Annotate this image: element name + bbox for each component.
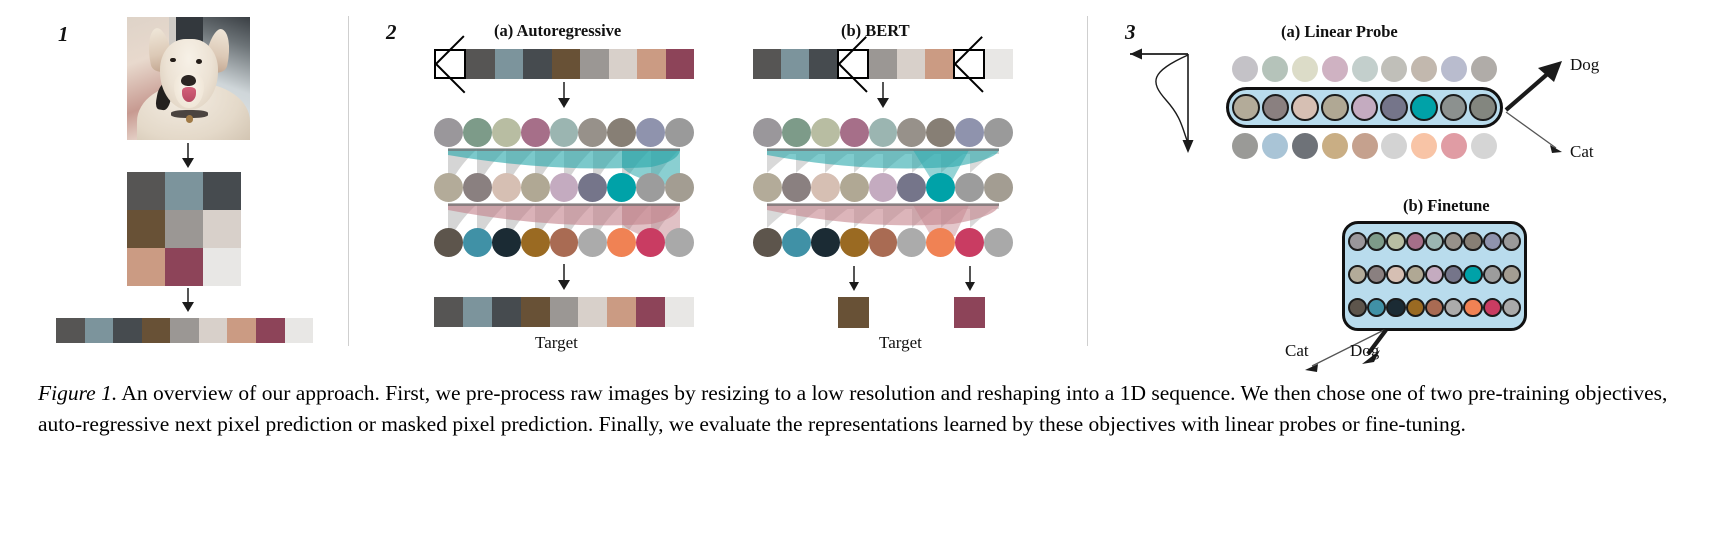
probe-bottom-node <box>1471 133 1497 159</box>
bert-layer3-node <box>984 228 1013 257</box>
probe-middle-node <box>1321 94 1349 122</box>
arrow-bert-input-to-layer1 <box>875 82 891 108</box>
autoregressive-target-label: Target <box>535 333 578 353</box>
ar-input-cell <box>637 49 665 79</box>
bert-layer1-node <box>984 118 1013 147</box>
panel-divider-2 <box>1087 16 1088 346</box>
ar-layer1-node <box>463 118 492 147</box>
ar-layer1-node <box>492 118 521 147</box>
autoregressive-input-strip <box>434 49 694 79</box>
bert-layer2-node <box>840 173 869 202</box>
finetune-r2-node <box>1444 265 1463 284</box>
bert-layer3-node <box>926 228 955 257</box>
probe-top-node <box>1352 56 1378 82</box>
finetune-row-3 <box>1348 293 1521 322</box>
finetune-r3-node <box>1502 298 1521 317</box>
pixel-cell <box>203 172 241 210</box>
bert-layer2-node <box>782 173 811 202</box>
panel-3-number: 3 <box>1125 20 1136 45</box>
probe-middle-node <box>1262 94 1290 122</box>
pixel-cell <box>165 210 203 248</box>
probe-bottom-node <box>1411 133 1437 159</box>
probe-top-node <box>1232 56 1258 82</box>
linear-probe-output-arrows <box>1500 48 1630 158</box>
arrow-ar-input-to-layer1 <box>556 82 572 108</box>
bert-input-cell <box>781 49 809 79</box>
ar-target-cell <box>521 297 550 327</box>
probe-top-node <box>1411 56 1437 82</box>
pixel-cell <box>127 172 165 210</box>
bert-layer1-node <box>753 118 782 147</box>
finetune-r3-node <box>1444 298 1463 317</box>
finetune-r1-node <box>1386 232 1405 251</box>
figure-caption: Figure 1. An overview of our approach. F… <box>38 378 1678 439</box>
arrow-ar-layer3-to-target <box>556 264 572 290</box>
bert-input-cell <box>869 49 897 79</box>
finetune-r3-node <box>1483 298 1502 317</box>
bert-layer3-node <box>869 228 898 257</box>
linear-probe-label-cat: Cat <box>1570 142 1594 162</box>
finetune-r1-node <box>1367 232 1386 251</box>
bert-layer2-node <box>984 173 1013 202</box>
ar-target-cell <box>607 297 636 327</box>
finetune-r3-node <box>1425 298 1444 317</box>
ar-layer1-node <box>607 118 636 147</box>
ar-input-cell <box>666 49 694 79</box>
bert-target-label: Target <box>879 333 922 353</box>
finetune-r1-node <box>1444 232 1463 251</box>
bert-layer1-node <box>811 118 840 147</box>
finetune-r2-node <box>1502 265 1521 284</box>
probe-top-node <box>1292 56 1318 82</box>
finetune-row-1 <box>1348 227 1521 256</box>
probe-middle-node <box>1410 94 1438 122</box>
bert-input-strip <box>753 49 1013 79</box>
probe-top-node <box>1381 56 1407 82</box>
finetune-label-dog: Dog <box>1350 341 1379 361</box>
arrow-bert-target-2 <box>963 266 977 291</box>
bert-title: (b) BERT <box>841 21 910 41</box>
dog-eye-right <box>196 59 202 64</box>
ar-layer3-node <box>550 228 579 257</box>
sequence-cell <box>142 318 171 343</box>
ar-layer1-node <box>636 118 665 147</box>
sequence-cell <box>113 318 142 343</box>
panel-divider-1 <box>348 16 349 346</box>
ar-layer3-node <box>463 228 492 257</box>
panel-1-number: 1 <box>58 22 69 47</box>
probe-middle-node <box>1380 94 1408 122</box>
ar-input-cell <box>495 49 523 79</box>
ar-target-cell <box>434 297 463 327</box>
finetune-r2-node <box>1348 265 1367 284</box>
bert-layer2-node <box>753 173 782 202</box>
bert-layer1-node <box>782 118 811 147</box>
ar-input-cell <box>552 49 580 79</box>
finetune-r3-node <box>1386 298 1405 317</box>
probe-bottom-node <box>1232 133 1258 159</box>
ar-input-cell <box>609 49 637 79</box>
finetune-r3-node <box>1463 298 1482 317</box>
finetune-title: (b) Finetune <box>1403 196 1490 216</box>
ar-target-cell <box>492 297 521 327</box>
probe-bottom-node <box>1352 133 1378 159</box>
probe-middle-node <box>1351 94 1379 122</box>
finetune-r3-node <box>1406 298 1425 317</box>
dog-photo <box>127 17 250 140</box>
bert-layer1-node <box>926 118 955 147</box>
autoregressive-target-strip <box>434 297 694 327</box>
linear-probe-row-top <box>1232 56 1497 82</box>
probe-top-node <box>1262 56 1288 82</box>
finetune-r3-node <box>1348 298 1367 317</box>
ar-layer1-node <box>434 118 463 147</box>
bert-layer3-node <box>897 228 926 257</box>
bert-layer1-node <box>840 118 869 147</box>
bert-layer2-nodes <box>753 173 1013 202</box>
sequence-cell <box>85 318 114 343</box>
linear-probe-row-bottom <box>1232 133 1497 159</box>
finetune-r2-node <box>1425 265 1444 284</box>
sequence-cell <box>199 318 228 343</box>
ar-layer3-node <box>636 228 665 257</box>
pixel-cell <box>127 210 165 248</box>
finetune-r3-node <box>1367 298 1386 317</box>
ar-layer3-node <box>665 228 694 257</box>
sequence-cell <box>285 318 314 343</box>
bert-layer1-node <box>897 118 926 147</box>
sequence-cell <box>56 318 85 343</box>
bert-layer1-node <box>869 118 898 147</box>
sequence-cell <box>256 318 285 343</box>
figure-caption-text: An overview of our approach. First, we p… <box>38 381 1667 436</box>
finetune-r1-node <box>1406 232 1425 251</box>
finetune-row-2 <box>1348 260 1521 289</box>
ar-input-cell <box>523 49 551 79</box>
bert-layer3-node <box>955 228 984 257</box>
bert-layer3-node <box>782 228 811 257</box>
probe-bottom-node <box>1381 133 1407 159</box>
ar-layer1-node <box>578 118 607 147</box>
ar-layer3-node <box>607 228 636 257</box>
probe-bottom-node <box>1262 133 1288 159</box>
ar-layer3-node <box>521 228 550 257</box>
ar-layer1-node <box>665 118 694 147</box>
ar-target-cell <box>665 297 694 327</box>
autoregressive-layer1-nodes <box>434 118 694 147</box>
bert-layer2-node <box>955 173 984 202</box>
probe-bottom-node <box>1322 133 1348 159</box>
ar-layer3-node <box>434 228 463 257</box>
figure-caption-label: Figure 1. <box>38 381 117 405</box>
autoregressive-layer2-nodes <box>434 173 694 202</box>
bert-target-square-1 <box>838 297 869 328</box>
arrow-grid-to-sequence <box>180 288 196 312</box>
finetune-r1-node <box>1463 232 1482 251</box>
figure-1-overview: 1 2 (a) Autoregressive <box>0 0 1710 546</box>
pixel-grid-3x3 <box>127 172 241 286</box>
bert-input-masked-cell <box>953 49 985 79</box>
pixel-cell <box>165 248 203 286</box>
panel-2-number: 2 <box>386 20 397 45</box>
ar-layer2-node <box>463 173 492 202</box>
ar-layer1-node <box>521 118 550 147</box>
finetune-label-cat: Cat <box>1285 341 1309 361</box>
ar-target-cell <box>550 297 579 327</box>
linear-probe-label-dog: Dog <box>1570 55 1599 75</box>
bert-layer1-node <box>955 118 984 147</box>
ar-input-cell <box>580 49 608 79</box>
bert-layer2-node <box>897 173 926 202</box>
probe-middle-node <box>1469 94 1497 122</box>
probe-top-node <box>1322 56 1348 82</box>
finetune-r1-node <box>1425 232 1444 251</box>
finetune-r1-node <box>1348 232 1367 251</box>
bert-input-cell <box>925 49 953 79</box>
sequence-cell <box>170 318 199 343</box>
pixel-cell <box>203 248 241 286</box>
pixel-cell <box>203 210 241 248</box>
pixel-cell <box>127 248 165 286</box>
bert-target-square-2 <box>954 297 985 328</box>
ar-layer2-node <box>578 173 607 202</box>
linear-probe-row-middle <box>1232 92 1497 123</box>
sequence-cell <box>227 318 256 343</box>
finetune-r2-node <box>1367 265 1386 284</box>
sequence-strip-1d <box>56 318 313 343</box>
ar-target-cell <box>636 297 665 327</box>
bert-input-masked-cell <box>837 49 869 79</box>
ar-layer2-node <box>550 173 579 202</box>
probe-middle-node <box>1291 94 1319 122</box>
ar-layer2-node <box>607 173 636 202</box>
autoregressive-layer3-nodes <box>434 228 694 257</box>
ar-layer2-node <box>636 173 665 202</box>
finetune-r1-node <box>1483 232 1502 251</box>
arrow-bert-target-1 <box>847 266 861 291</box>
ar-target-cell <box>578 297 607 327</box>
probe-bottom-node <box>1441 133 1467 159</box>
bert-layer3-nodes <box>753 228 1013 257</box>
probe-middle-node <box>1440 94 1468 122</box>
ar-layer1-node <box>550 118 579 147</box>
probe-top-node <box>1441 56 1467 82</box>
bert-layer3-node <box>753 228 782 257</box>
bert-layer3-node <box>811 228 840 257</box>
ar-layer2-node <box>521 173 550 202</box>
dog-nose <box>181 75 196 86</box>
ar-input-cell <box>466 49 494 79</box>
ar-layer2-node <box>665 173 694 202</box>
probe-bottom-node <box>1292 133 1318 159</box>
linear-probe-recurrence-arrow <box>1110 44 1230 159</box>
bert-input-cell <box>753 49 781 79</box>
bert-input-cell <box>809 49 837 79</box>
ar-target-cell <box>463 297 492 327</box>
ar-layer2-node <box>492 173 521 202</box>
ar-input-masked-cell <box>434 49 466 79</box>
bert-layer2-node <box>869 173 898 202</box>
bert-input-cell <box>897 49 925 79</box>
finetune-r2-node <box>1386 265 1405 284</box>
finetune-r2-node <box>1483 265 1502 284</box>
probe-middle-node <box>1232 94 1260 122</box>
finetune-r1-node <box>1502 232 1521 251</box>
autoregressive-title: (a) Autoregressive <box>494 21 621 41</box>
ar-layer3-node <box>578 228 607 257</box>
bert-layer3-node <box>840 228 869 257</box>
arrow-photo-to-grid <box>180 143 196 168</box>
finetune-r2-node <box>1463 265 1482 284</box>
bert-layer2-node <box>926 173 955 202</box>
linear-probe-title: (a) Linear Probe <box>1281 22 1398 42</box>
bert-input-cell <box>985 49 1013 79</box>
bert-layer1-nodes <box>753 118 1013 147</box>
bert-layer2-node <box>811 173 840 202</box>
ar-layer2-node <box>434 173 463 202</box>
ar-layer3-node <box>492 228 521 257</box>
finetune-r2-node <box>1406 265 1425 284</box>
pixel-cell <box>165 172 203 210</box>
probe-top-node <box>1471 56 1497 82</box>
